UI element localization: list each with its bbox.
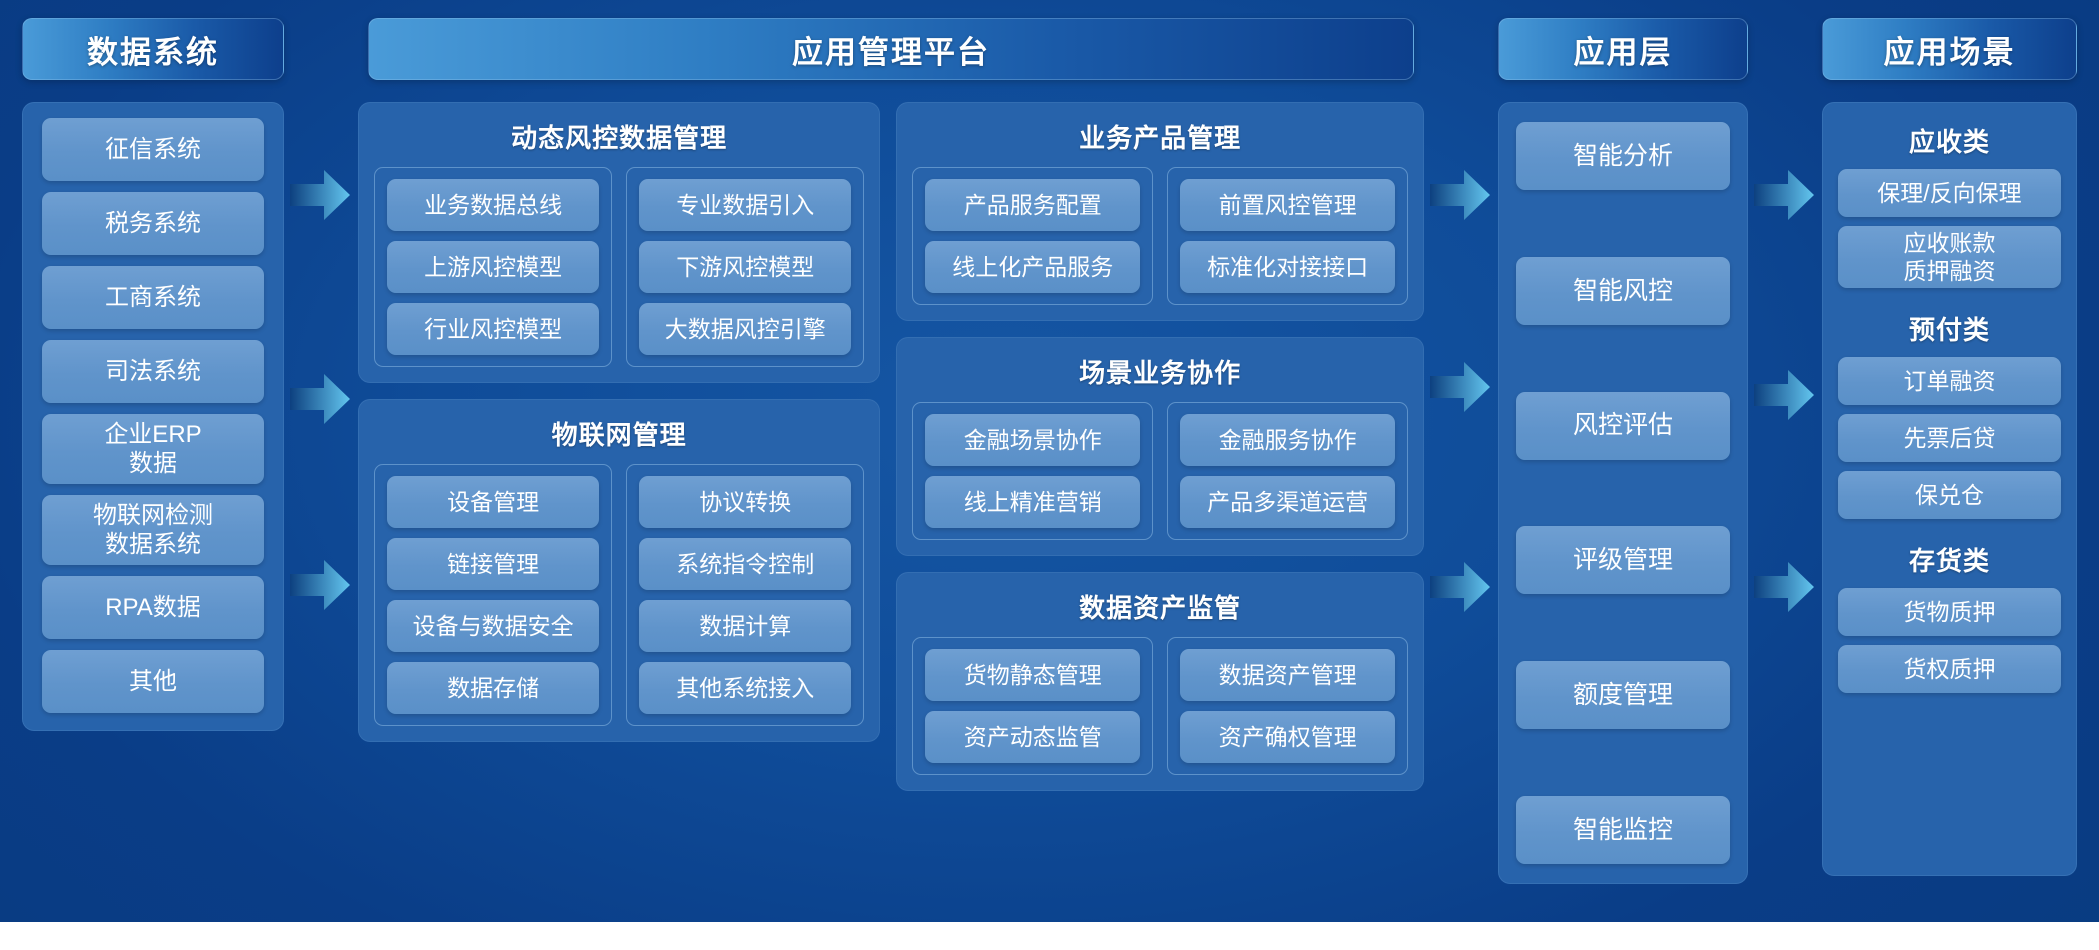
platform-right-groups: 业务产品管理 产品服务配置 线上化产品服务 前置风控管理 标准化对接接口 [896, 102, 1424, 791]
architecture-diagram: 数据系统 征信系统 税务系统 工商系统 司法系统 企业ERP 数据 物联网检测 … [0, 0, 2099, 950]
column-header-platform: 应用管理平台 [368, 18, 1414, 80]
platform-item[interactable]: 专业数据引入 [639, 179, 851, 231]
platform-item[interactable]: 数据资产管理 [1180, 649, 1395, 701]
scenario-item[interactable]: 保理/反向保理 [1838, 169, 2061, 217]
platform-item[interactable]: 资产动态监管 [925, 711, 1140, 763]
scenario-item[interactable]: 保兑仓 [1838, 471, 2061, 519]
platform-item[interactable]: 数据计算 [639, 600, 851, 652]
subgroup: 设备管理 链接管理 设备与数据安全 数据存储 [374, 464, 612, 726]
subgroup: 数据资产管理 资产确权管理 [1167, 637, 1408, 775]
scenario-section-title: 存货类 [1838, 541, 2061, 578]
scenario-item[interactable]: 货权质押 [1838, 645, 2061, 693]
arrow-right-icon [1754, 558, 1814, 616]
arrow-right-icon [290, 370, 350, 428]
platform-left-groups: 动态风控数据管理 业务数据总线 上游风控模型 行业风控模型 专业数据引入 下游风… [358, 102, 880, 791]
platform-item[interactable]: 上游风控模型 [387, 241, 599, 293]
platform-item[interactable]: 行业风控模型 [387, 303, 599, 355]
platform-item[interactable]: 资产确权管理 [1180, 711, 1395, 763]
column-data-system: 数据系统 征信系统 税务系统 工商系统 司法系统 企业ERP 数据 物联网检测 … [22, 18, 284, 731]
subgroup: 金融服务协作 产品多渠道运营 [1167, 402, 1408, 540]
subgroup: 协议转换 系统指令控制 数据计算 其他系统接入 [626, 464, 864, 726]
subgroup: 金融场景协作 线上精准营销 [912, 402, 1153, 540]
platform-item[interactable]: 产品多渠道运营 [1180, 476, 1395, 528]
scenario-section-title: 预付类 [1838, 310, 2061, 347]
platform-item[interactable]: 协议转换 [639, 476, 851, 528]
arrow-right-icon [1754, 366, 1814, 424]
platform-item[interactable]: 设备管理 [387, 476, 599, 528]
app-layer-panel: 智能分析 智能风控 风控评估 评级管理 额度管理 智能监控 [1498, 102, 1748, 884]
app-layer-item[interactable]: 额度管理 [1516, 661, 1730, 729]
group-title: 数据资产监管 [912, 588, 1408, 625]
subgroup: 业务数据总线 上游风控模型 行业风控模型 [374, 167, 612, 367]
group-iot-management: 物联网管理 设备管理 链接管理 设备与数据安全 数据存储 协议转换 系统指令控制 [358, 399, 880, 742]
arrow-gutter-2 [1424, 18, 1498, 922]
platform-body: 动态风控数据管理 业务数据总线 上游风控模型 行业风控模型 专业数据引入 下游风… [358, 102, 1424, 791]
diagram-layout: 数据系统 征信系统 税务系统 工商系统 司法系统 企业ERP 数据 物联网检测 … [0, 0, 2099, 922]
scenarios-panel: 应收类 保理/反向保理 应收账款 质押融资 预付类 订单融资 先票后贷 保兑仓 … [1822, 102, 2077, 876]
app-layer-item[interactable]: 智能监控 [1516, 796, 1730, 864]
data-system-item[interactable]: 企业ERP 数据 [42, 414, 264, 484]
platform-item[interactable]: 设备与数据安全 [387, 600, 599, 652]
group-title: 业务产品管理 [912, 118, 1408, 155]
column-header-data-system: 数据系统 [22, 18, 284, 80]
data-system-item[interactable]: 税务系统 [42, 192, 264, 255]
group-title: 物联网管理 [374, 415, 864, 452]
arrow-right-icon [290, 556, 350, 614]
platform-item[interactable]: 业务数据总线 [387, 179, 599, 231]
data-system-panel: 征信系统 税务系统 工商系统 司法系统 企业ERP 数据 物联网检测 数据系统 … [22, 102, 284, 731]
scenario-item[interactable]: 应收账款 质押融资 [1838, 226, 2061, 288]
scenario-section-title: 应收类 [1838, 122, 2061, 159]
platform-item[interactable]: 大数据风控引擎 [639, 303, 851, 355]
column-app-layer: 应用层 智能分析 智能风控 风控评估 评级管理 额度管理 智能监控 [1498, 18, 1748, 884]
platform-item[interactable]: 系统指令控制 [639, 538, 851, 590]
scenario-item[interactable]: 先票后贷 [1838, 414, 2061, 462]
scenario-item[interactable]: 订单融资 [1838, 357, 2061, 405]
platform-item[interactable]: 线上精准营销 [925, 476, 1140, 528]
platform-item[interactable]: 标准化对接接口 [1180, 241, 1395, 293]
subgroup: 货物静态管理 资产动态监管 [912, 637, 1153, 775]
platform-item[interactable]: 数据存储 [387, 662, 599, 714]
column-header-scenarios: 应用场景 [1822, 18, 2077, 80]
platform-item[interactable]: 前置风控管理 [1180, 179, 1395, 231]
data-system-item[interactable]: 征信系统 [42, 118, 264, 181]
platform-item[interactable]: 金融服务协作 [1180, 414, 1395, 466]
group-business-product: 业务产品管理 产品服务配置 线上化产品服务 前置风控管理 标准化对接接口 [896, 102, 1424, 321]
group-title: 动态风控数据管理 [374, 118, 864, 155]
platform-item[interactable]: 线上化产品服务 [925, 241, 1140, 293]
data-system-item[interactable]: 物联网检测 数据系统 [42, 495, 264, 565]
platform-item[interactable]: 货物静态管理 [925, 649, 1140, 701]
column-header-app-layer: 应用层 [1498, 18, 1748, 80]
group-dynamic-risk-data: 动态风控数据管理 业务数据总线 上游风控模型 行业风控模型 专业数据引入 下游风… [358, 102, 880, 383]
arrow-gutter-3 [1748, 18, 1822, 922]
platform-item[interactable]: 下游风控模型 [639, 241, 851, 293]
group-data-asset-supervision: 数据资产监管 货物静态管理 资产动态监管 数据资产管理 资产确权管理 [896, 572, 1424, 791]
arrow-right-icon [1430, 166, 1490, 224]
data-system-item[interactable]: RPA数据 [42, 576, 264, 639]
app-layer-item[interactable]: 风控评估 [1516, 392, 1730, 460]
arrow-right-icon [1430, 558, 1490, 616]
app-layer-item[interactable]: 智能分析 [1516, 122, 1730, 190]
platform-item[interactable]: 其他系统接入 [639, 662, 851, 714]
arrow-right-icon [1430, 358, 1490, 416]
platform-item[interactable]: 金融场景协作 [925, 414, 1140, 466]
arrow-right-icon [1754, 166, 1814, 224]
group-title: 场景业务协作 [912, 353, 1408, 390]
column-platform: 应用管理平台 动态风控数据管理 业务数据总线 上游风控模型 行业风控模型 [358, 18, 1424, 791]
data-system-item[interactable]: 工商系统 [42, 266, 264, 329]
group-scenario-collaboration: 场景业务协作 金融场景协作 线上精准营销 金融服务协作 产品多渠道运营 [896, 337, 1424, 556]
platform-item[interactable]: 链接管理 [387, 538, 599, 590]
column-scenarios: 应用场景 应收类 保理/反向保理 应收账款 质押融资 预付类 订单融资 先票后贷… [1822, 18, 2077, 876]
arrow-gutter-1 [284, 18, 358, 922]
subgroup: 专业数据引入 下游风控模型 大数据风控引擎 [626, 167, 864, 367]
arrow-right-icon [290, 166, 350, 224]
platform-item[interactable]: 产品服务配置 [925, 179, 1140, 231]
data-system-item[interactable]: 其他 [42, 650, 264, 713]
subgroup: 前置风控管理 标准化对接接口 [1167, 167, 1408, 305]
app-layer-item[interactable]: 智能风控 [1516, 257, 1730, 325]
scenario-item[interactable]: 货物质押 [1838, 588, 2061, 636]
data-system-item[interactable]: 司法系统 [42, 340, 264, 403]
subgroup: 产品服务配置 线上化产品服务 [912, 167, 1153, 305]
app-layer-item[interactable]: 评级管理 [1516, 526, 1730, 594]
